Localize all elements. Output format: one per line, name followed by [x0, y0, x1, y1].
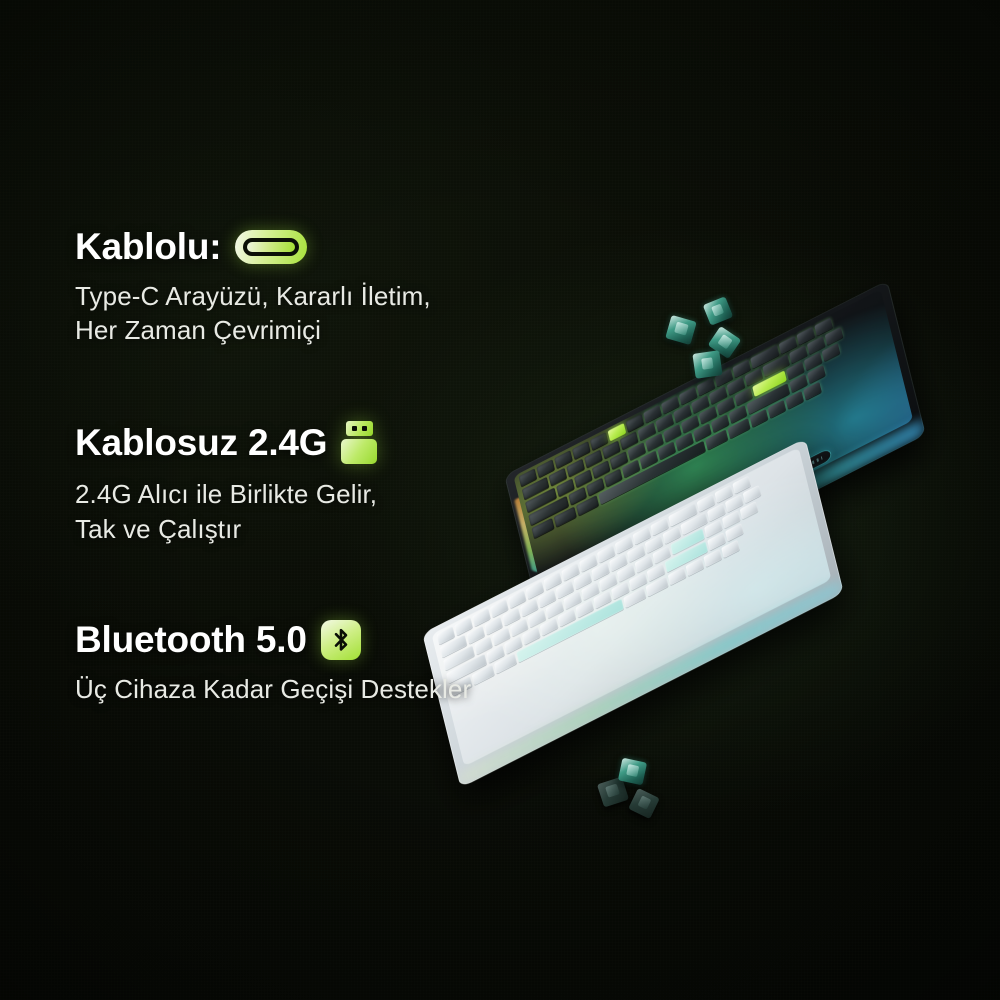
feature-wireless-24g-description: 2.4G Alıcı ile Birlikte Gelir, Tak ve Ça… — [75, 477, 595, 546]
feature-bluetooth-line-1: Üç Cihaza Kadar Geçişi Destekler — [75, 672, 595, 706]
bluetooth-icon — [321, 620, 361, 660]
feature-wireless-24g-line-2: Tak ve Çalıştır — [75, 512, 595, 546]
feature-bluetooth-heading: Bluetooth 5.0 — [75, 620, 595, 660]
usb-dongle-icon — [341, 421, 377, 465]
feature-wireless-24g-heading: Kablosuz 2.4G — [75, 421, 595, 465]
floating-switch — [665, 315, 697, 345]
feature-wired-heading: Kablolu: — [75, 228, 595, 267]
feature-bluetooth: Bluetooth 5.0 Üç Cihaza Kadar Geçişi Des… — [75, 620, 595, 706]
floating-switch — [703, 296, 733, 325]
feature-wired-line-1: Type-C Arayüzü, Kararlı İletim, — [75, 279, 595, 313]
product-feature-banner: Kablolu: Type-C Arayüzü, Kararlı İletim,… — [0, 0, 1000, 1000]
floating-switch — [692, 350, 722, 379]
feature-wired-description: Type-C Arayüzü, Kararlı İletim, Her Zama… — [75, 279, 595, 348]
floating-switch — [618, 758, 647, 786]
feature-wireless-24g-title: Kablosuz 2.4G — [75, 424, 327, 463]
feature-bluetooth-title: Bluetooth 5.0 — [75, 621, 307, 660]
usb-c-icon — [235, 230, 307, 264]
feature-list: Kablolu: Type-C Arayüzü, Kararlı İletim,… — [75, 228, 595, 706]
feature-wireless-24g: Kablosuz 2.4G 2.4G Alıcı ile Birlikte Ge… — [75, 421, 595, 546]
feature-bluetooth-description: Üç Cihaza Kadar Geçişi Destekler — [75, 672, 595, 706]
feature-wireless-24g-line-1: 2.4G Alıcı ile Birlikte Gelir, — [75, 477, 595, 511]
feature-wired: Kablolu: Type-C Arayüzü, Kararlı İletim,… — [75, 228, 595, 347]
floating-switch — [628, 788, 660, 819]
feature-wired-title: Kablolu: — [75, 228, 221, 267]
feature-wired-line-2: Her Zaman Çevrimiçi — [75, 313, 595, 347]
